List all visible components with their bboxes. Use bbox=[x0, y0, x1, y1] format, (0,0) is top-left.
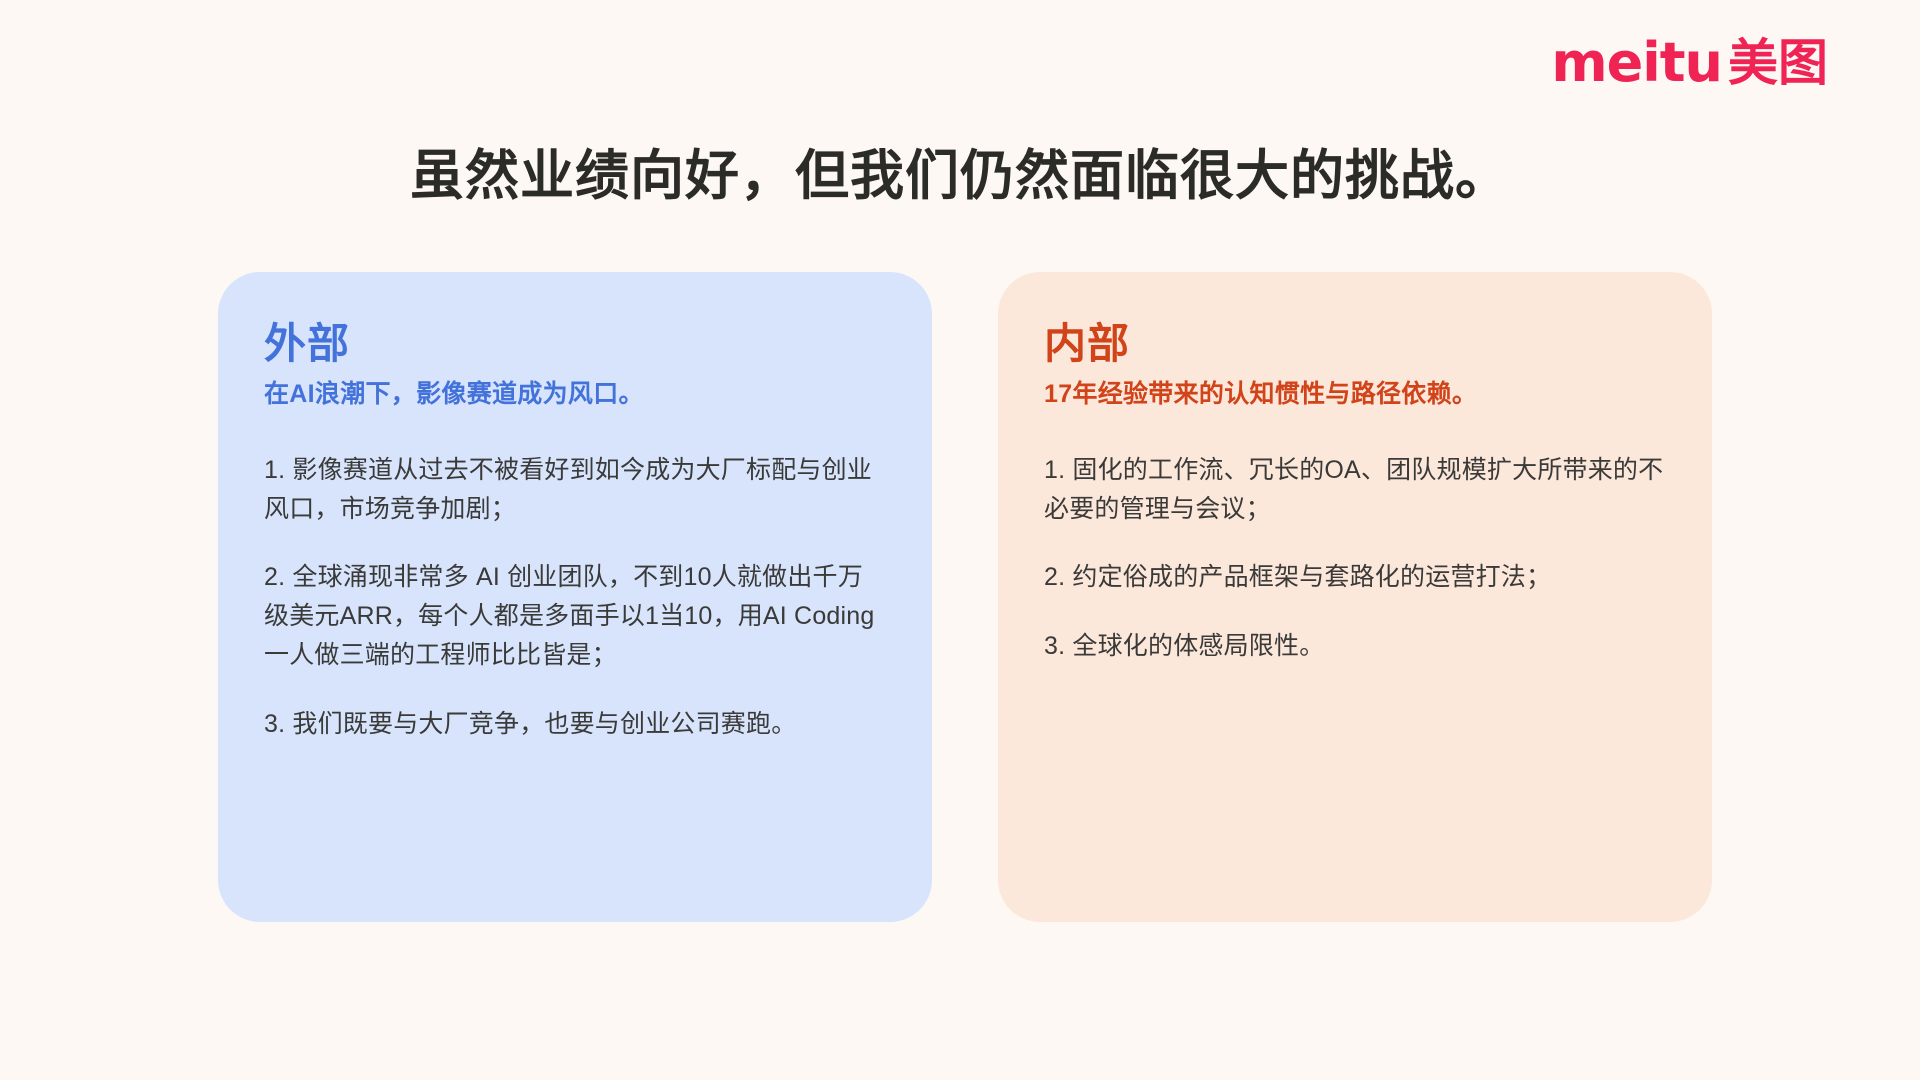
page-title: 虽然业绩向好，但我们仍然面临很大的挑战。 bbox=[0, 144, 1920, 209]
list-item: 1. 固化的工作流、冗长的OA、团队规模扩大所带来的不必要的管理与会议； bbox=[1044, 451, 1666, 529]
card-internal: 内部 17年经验带来的认知惯性与路径依赖。 1. 固化的工作流、冗长的OA、团队… bbox=[998, 272, 1712, 922]
list-item: 1. 影像赛道从过去不被看好到如今成为大厂标配与创业风口，市场竞争加剧； bbox=[264, 451, 886, 529]
card-external-subtitle: 在AI浪潮下，影像赛道成为风口。 bbox=[264, 378, 886, 411]
cards-container: 外部 在AI浪潮下，影像赛道成为风口。 1. 影像赛道从过去不被看好到如今成为大… bbox=[218, 272, 1712, 922]
card-external-items: 1. 影像赛道从过去不被看好到如今成为大厂标配与创业风口，市场竞争加剧； 2. … bbox=[264, 451, 886, 744]
card-internal-heading: 内部 bbox=[1044, 320, 1666, 368]
logo-chinese-text: 美图 bbox=[1728, 38, 1828, 88]
card-internal-subtitle: 17年经验带来的认知惯性与路径依赖。 bbox=[1044, 378, 1666, 411]
card-internal-items: 1. 固化的工作流、冗长的OA、团队规模扩大所带来的不必要的管理与会议； 2. … bbox=[1044, 451, 1666, 666]
list-item: 2. 全球涌现非常多 AI 创业团队，不到10人就做出千万级美元ARR，每个人都… bbox=[264, 558, 886, 674]
meitu-logo: meitu 美图 bbox=[1551, 34, 1828, 92]
card-external-heading: 外部 bbox=[264, 320, 886, 368]
list-item: 3. 全球化的体感局限性。 bbox=[1044, 627, 1666, 666]
card-external: 外部 在AI浪潮下，影像赛道成为风口。 1. 影像赛道从过去不被看好到如今成为大… bbox=[218, 272, 932, 922]
list-item: 3. 我们既要与大厂竞争，也要与创业公司赛跑。 bbox=[264, 705, 886, 744]
slide-canvas: meitu 美图 虽然业绩向好，但我们仍然面临很大的挑战。 外部 在AI浪潮下，… bbox=[0, 0, 1920, 1080]
logo-wordmark-text: meitu bbox=[1551, 36, 1722, 90]
list-item: 2. 约定俗成的产品框架与套路化的运营打法； bbox=[1044, 558, 1666, 597]
